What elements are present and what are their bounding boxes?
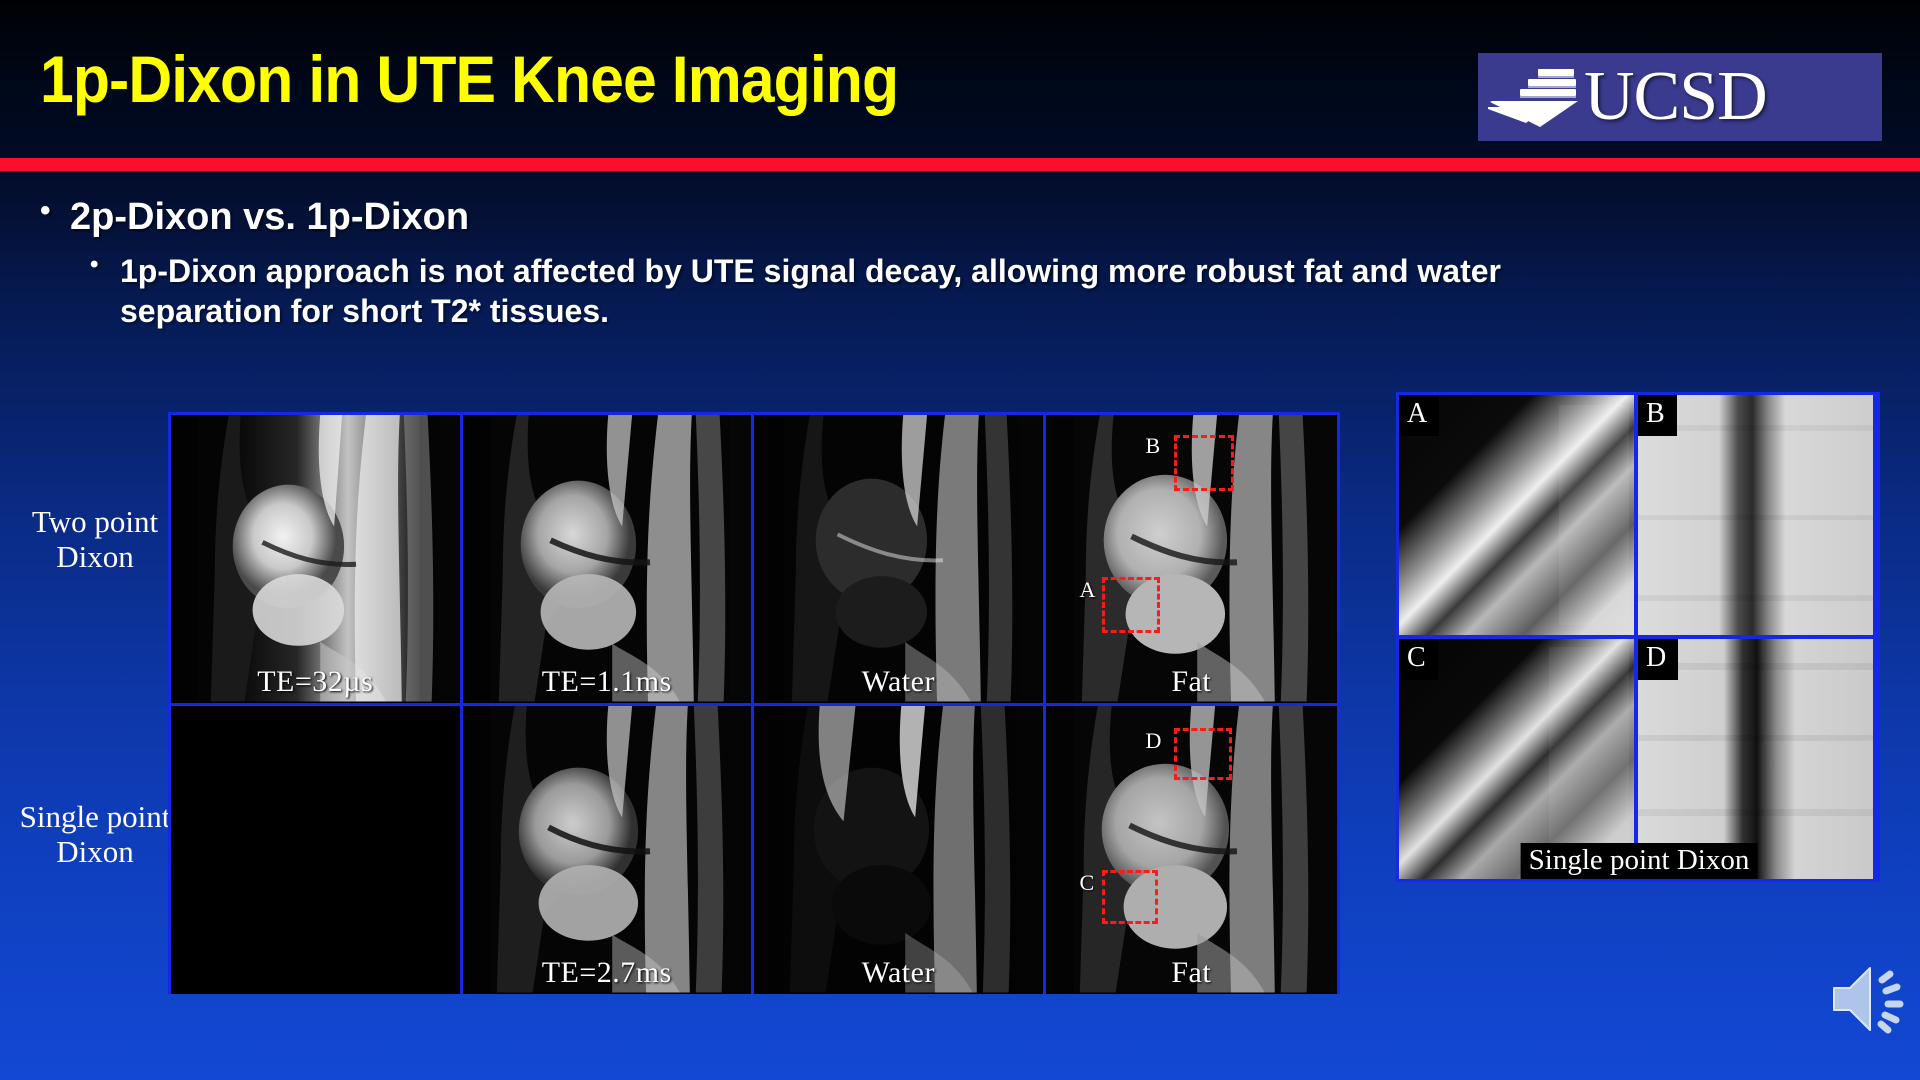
inset-tag-c: C	[1399, 639, 1438, 680]
knee-mri-image	[463, 706, 751, 993]
mri-panel-caption: TE=1.1ms	[463, 665, 752, 699]
mri-panel-caption: TE=2.7ms	[463, 956, 752, 990]
inset-tag-a: A	[1399, 395, 1439, 436]
mri-panel-fat-1p: D C Fat	[1046, 706, 1337, 994]
mri-panel-te27ms: TE=2.7ms	[463, 706, 752, 994]
row-label-two-point-line1: Two point	[0, 505, 190, 540]
mri-panel-te11ms: TE=1.1ms	[463, 415, 752, 703]
mri-panel-caption: TE=32µs	[171, 665, 460, 699]
roi-letter-c: C	[1080, 870, 1095, 896]
bullet-level2: 1p-Dixon approach is not affected by UTE…	[38, 251, 1520, 332]
roi-inset-grid: A	[1396, 392, 1880, 882]
mri-panel-caption: Fat	[1046, 956, 1337, 990]
inset-caption-single-point: Single point Dixon	[1521, 843, 1758, 879]
inset-row-single-point: C	[1399, 639, 1877, 879]
mri-panel-water-2p: Water	[754, 415, 1043, 703]
mri-panel-caption: Fat	[1046, 665, 1337, 699]
montage-row-two-point: TE=32µs	[171, 415, 1337, 703]
bullet-list: 2p-Dixon vs. 1p-Dixon 1p-Dixon approach …	[38, 196, 1838, 332]
roi-box-c	[1102, 870, 1158, 924]
row-label-two-point-line2: Dixon	[0, 540, 190, 575]
title-divider-rule	[0, 158, 1920, 171]
roi-letter-b: B	[1146, 433, 1161, 459]
slide-canvas: 1p-Dixon in UTE Knee Imaging UCSD 2p-Dix…	[0, 0, 1920, 1080]
mri-panel-empty	[171, 706, 460, 994]
row-label-single-point-line2: Dixon	[0, 835, 190, 870]
knee-mri-image	[171, 415, 459, 702]
blank-panel-image	[171, 706, 459, 993]
page-title: 1p-Dixon in UTE Knee Imaging	[40, 46, 898, 112]
inset-panel-a: A	[1399, 395, 1634, 635]
ucsd-trident-mark	[1486, 61, 1582, 133]
mri-panel-water-1p: Water	[754, 706, 1043, 994]
mri-panel-caption: Water	[754, 665, 1043, 699]
inset-tag-d: D	[1638, 639, 1678, 680]
knee-mri-image	[754, 415, 1042, 702]
inset-panel-b: B	[1638, 395, 1873, 635]
inset-tag-b: B	[1638, 395, 1677, 436]
row-label-single-point: Single point Dixon	[0, 800, 190, 869]
row-label-single-point-line1: Single point	[0, 800, 190, 835]
ucsd-logo: UCSD	[1478, 53, 1882, 141]
bullet-level1: 2p-Dixon vs. 1p-Dixon	[38, 196, 1838, 239]
mri-panel-te32us: TE=32µs	[171, 415, 460, 703]
mri-montage: TE=32µs	[168, 412, 1340, 994]
ucsd-wordmark: UCSD	[1584, 62, 1767, 132]
roi-box-a	[1102, 577, 1160, 633]
roi-box-d	[1174, 728, 1232, 780]
montage-row-single-point: TE=2.7ms Water	[171, 706, 1337, 994]
roi-letter-d: D	[1146, 728, 1162, 754]
knee-mri-image	[463, 415, 751, 702]
mri-panel-caption: Water	[754, 956, 1043, 990]
knee-mri-image	[754, 706, 1042, 993]
speaker-sound-icon[interactable]	[1832, 962, 1912, 1036]
row-label-two-point: Two point Dixon	[0, 505, 190, 574]
roi-letter-a: A	[1080, 577, 1096, 603]
mri-panel-fat-2p: B A Fat	[1046, 415, 1337, 703]
roi-box-b	[1174, 435, 1234, 491]
inset-row-two-point: A	[1399, 395, 1877, 635]
